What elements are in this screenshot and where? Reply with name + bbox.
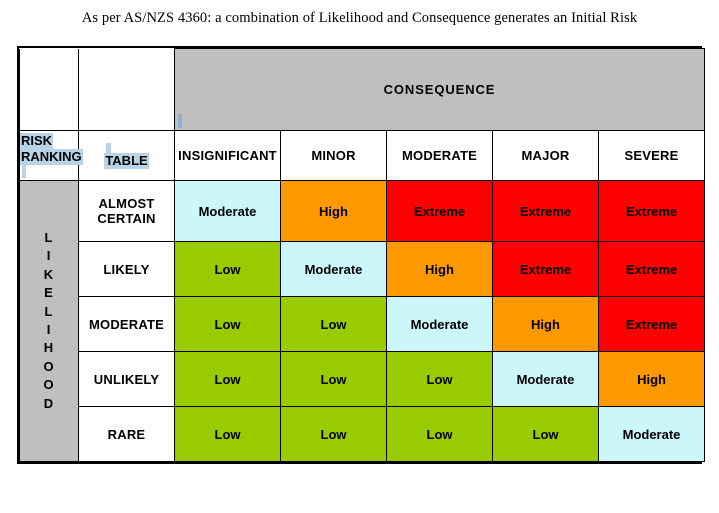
corner-cell-top-mid: [79, 49, 175, 131]
likelihood-level-rare: RARE: [79, 407, 175, 462]
likelihood-letter: O: [20, 376, 78, 394]
likelihood-level-almost-certain: ALMOST CERTAIN: [79, 181, 175, 242]
matrix-header-row-top: CONSEQUENCE: [20, 49, 705, 131]
risk-cell: Extreme: [493, 242, 599, 297]
likelihood-level-moderate: MODERATE: [79, 297, 175, 352]
risk-cell: High: [493, 297, 599, 352]
likelihood-axis-title: L I K E L I H O O D: [20, 181, 79, 462]
risk-cell: Low: [387, 407, 493, 462]
consequence-header-severe: SEVERE: [599, 131, 705, 181]
table-label: TABLE: [104, 153, 148, 169]
risk-cell: Low: [387, 352, 493, 407]
corner-cell-top-left: [20, 49, 79, 131]
likelihood-letter: H: [20, 339, 78, 357]
risk-cell: Extreme: [599, 181, 705, 242]
consequence-header-moderate: MODERATE: [387, 131, 493, 181]
risk-cell: Extreme: [599, 297, 705, 352]
matrix-row-moderate: MODERATE Low Low Moderate High Extreme: [20, 297, 705, 352]
level-label-line1: ALMOST: [98, 196, 154, 211]
risk-cell: Moderate: [599, 407, 705, 462]
consequence-header-insignificant: INSIGNIFICANT: [175, 131, 281, 181]
risk-matrix-table: CONSEQUENCE RISK RANKING TABLE: [19, 48, 705, 462]
risk-cell: Extreme: [493, 181, 599, 242]
consequence-axis-title: CONSEQUENCE: [175, 49, 705, 131]
level-label-line2: CERTAIN: [97, 211, 155, 226]
risk-cell: Moderate: [281, 242, 387, 297]
likelihood-letter: D: [20, 395, 78, 413]
likelihood-letter: K: [20, 266, 78, 284]
risk-cell: Moderate: [387, 297, 493, 352]
risk-cell: Low: [493, 407, 599, 462]
table-label-cell: TABLE: [79, 131, 175, 181]
risk-ranking-label-line1: RISK: [20, 133, 53, 149]
likelihood-letter: E: [20, 284, 78, 302]
likelihood-level-likely: LIKELY: [79, 242, 175, 297]
likelihood-letter: L: [20, 303, 78, 321]
consequence-axis-label: CONSEQUENCE: [384, 82, 496, 97]
risk-cell: Low: [175, 297, 281, 352]
risk-cell: Low: [281, 407, 387, 462]
likelihood-letter: L: [20, 229, 78, 247]
likelihood-letter: I: [20, 321, 78, 339]
matrix-row-rare: RARE Low Low Low Low Moderate: [20, 407, 705, 462]
risk-cell: High: [281, 181, 387, 242]
risk-cell: Low: [281, 352, 387, 407]
page-title: As per AS/NZS 4360: a combination of Lik…: [0, 10, 719, 27]
risk-ranking-label-cell: RISK RANKING: [20, 131, 79, 181]
consequence-header-minor: MINOR: [281, 131, 387, 181]
matrix-header-row-columns: RISK RANKING TABLE INSIGNIFICANT MINOR M…: [20, 131, 705, 181]
text-cursor-icon: [22, 165, 26, 178]
risk-cell: Extreme: [387, 181, 493, 242]
matrix-row-almost-certain: L I K E L I H O O D ALMOST CERTAIN: [20, 181, 705, 242]
risk-cell: Extreme: [599, 242, 705, 297]
risk-cell: Low: [175, 407, 281, 462]
matrix-row-likely: LIKELY Low Moderate High Extreme Extreme: [20, 242, 705, 297]
risk-ranking-matrix: CONSEQUENCE RISK RANKING TABLE: [17, 46, 702, 464]
likelihood-axis-letters: L I K E L I H O O D: [20, 229, 78, 414]
consequence-header-major: MAJOR: [493, 131, 599, 181]
likelihood-letter: O: [20, 358, 78, 376]
risk-cell: Low: [281, 297, 387, 352]
risk-cell: High: [599, 352, 705, 407]
likelihood-level-unlikely: UNLIKELY: [79, 352, 175, 407]
text-cursor-icon: [178, 114, 182, 128]
risk-cell: Moderate: [493, 352, 599, 407]
risk-cell: Moderate: [175, 181, 281, 242]
risk-cell: Low: [175, 352, 281, 407]
risk-cell: Low: [175, 242, 281, 297]
matrix-body: CONSEQUENCE RISK RANKING TABLE: [20, 49, 705, 462]
risk-cell: High: [387, 242, 493, 297]
risk-ranking-label-line2: RANKING: [20, 149, 83, 165]
likelihood-letter: I: [20, 247, 78, 265]
matrix-row-unlikely: UNLIKELY Low Low Low Moderate High: [20, 352, 705, 407]
